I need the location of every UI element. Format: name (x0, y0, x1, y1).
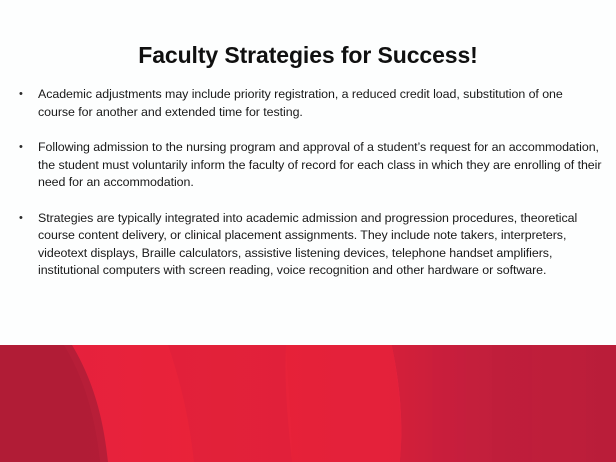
banner-band-3 (556, 345, 586, 462)
slide-title-block: Faculty Strategies for Success! (0, 28, 616, 84)
list-item: • Academic adjustments may include prior… (14, 86, 602, 121)
list-item: • Following admission to the nursing pro… (14, 139, 602, 192)
bullet-point-icon: • (14, 139, 38, 157)
banner-band-1 (432, 345, 466, 462)
bullet-text: Following admission to the nursing progr… (38, 139, 602, 192)
banner-graphic (0, 345, 616, 462)
list-item: • Strategies are typically integrated in… (14, 210, 602, 280)
bullet-text: Academic adjustments may include priorit… (38, 86, 602, 121)
bullet-point-icon: • (14, 210, 38, 228)
presentation-slide: Faculty Strategies for Success! • Academ… (0, 0, 616, 462)
slide-body-content: • Academic adjustments may include prior… (14, 86, 602, 298)
banner-band-2 (492, 345, 532, 462)
bullet-text: Strategies are typically integrated into… (38, 210, 602, 280)
banner-inner-arc-right (286, 345, 401, 462)
bullet-point-icon: • (14, 86, 38, 104)
page-title: Faculty Strategies for Success! (138, 43, 477, 68)
decorative-red-banner (0, 345, 616, 462)
